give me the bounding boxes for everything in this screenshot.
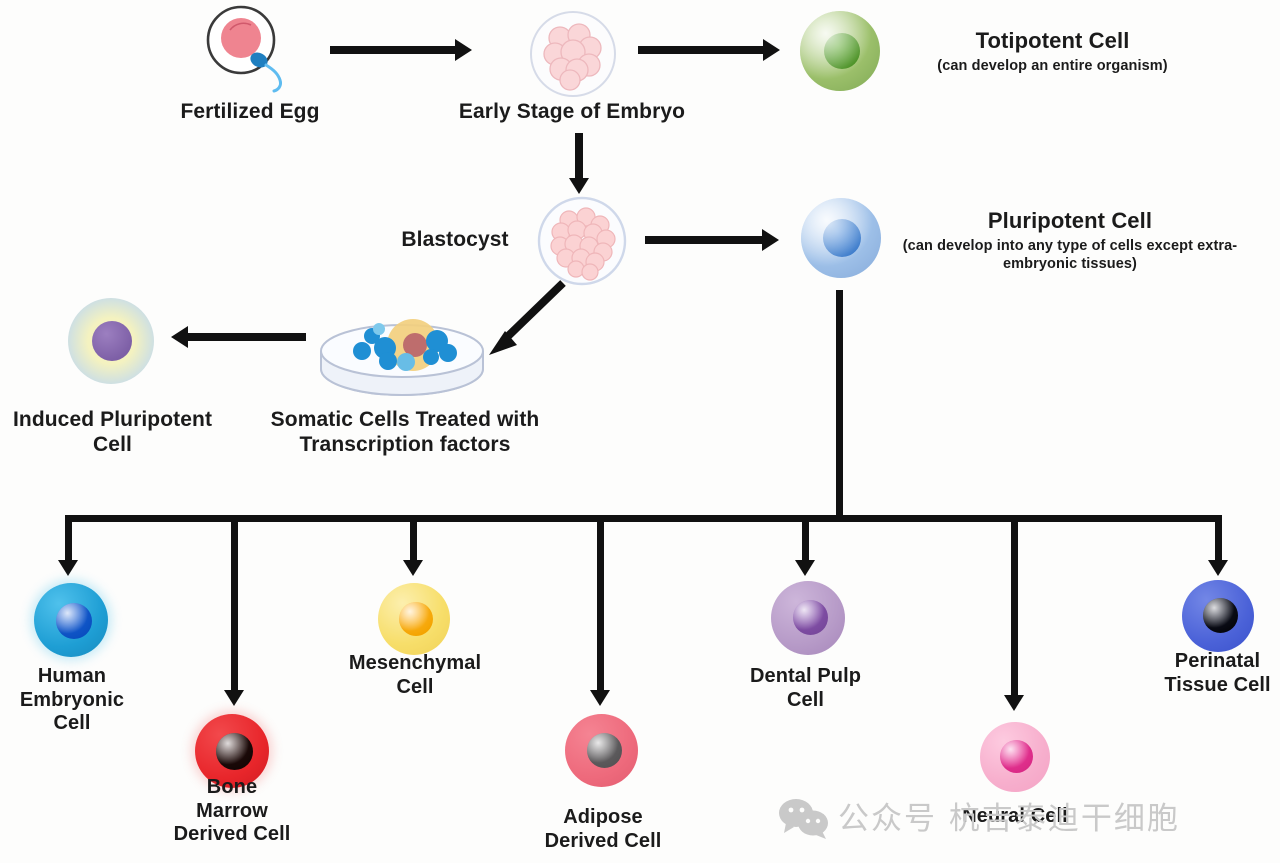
blastocyst-label: Blastocyst	[360, 228, 550, 253]
petri-dish-icon	[315, 303, 490, 401]
wechat-icon	[778, 797, 830, 839]
early-stage-embryo-label: Early Stage of Embryo	[422, 100, 722, 125]
pluripotent-feed-line	[836, 290, 843, 522]
distribution-bus-line	[65, 515, 1222, 522]
bone-marrow-derived-cell-label: Bone Marrow Derived Cell	[152, 776, 312, 847]
fertilized-egg-icon	[198, 2, 308, 98]
somatic-cells-label: Somatic Cells Treated with Transcription…	[250, 408, 560, 458]
fertilized-egg-label: Fertilized Egg	[150, 100, 350, 125]
blastocyst-icon	[536, 196, 628, 286]
mesenchymal-cell-label: Mesenchymal Cell	[325, 652, 505, 699]
adipose-derived-cell-label: Adipose Derived Cell	[518, 806, 688, 853]
totipotent-cell-subtitle: (can develop an entire organism)	[890, 57, 1215, 75]
morula-icon	[527, 10, 619, 98]
ipsc-label: Induced Pluripotent Cell	[0, 408, 230, 458]
stem-cell-differentiation-diagram: Fertilized Egg Early Stage of Embryo Tot…	[0, 0, 1280, 863]
human-embryonic-cell-label: Human Embryonic Cell	[0, 665, 148, 736]
totipotent-cell-title: Totipotent Cell	[890, 28, 1215, 54]
perinatal-tissue-cell-label: Perinatal Tissue Cell	[1140, 650, 1280, 697]
pluripotent-cell-subtitle: (can develop into any type of cells exce…	[900, 237, 1240, 273]
dental-pulp-cell-label: Dental Pulp Cell	[718, 665, 893, 712]
pluripotent-cell-title: Pluripotent Cell	[900, 208, 1240, 234]
watermark-text: 公众号 杭吉泰迪干细胞	[838, 793, 1180, 838]
